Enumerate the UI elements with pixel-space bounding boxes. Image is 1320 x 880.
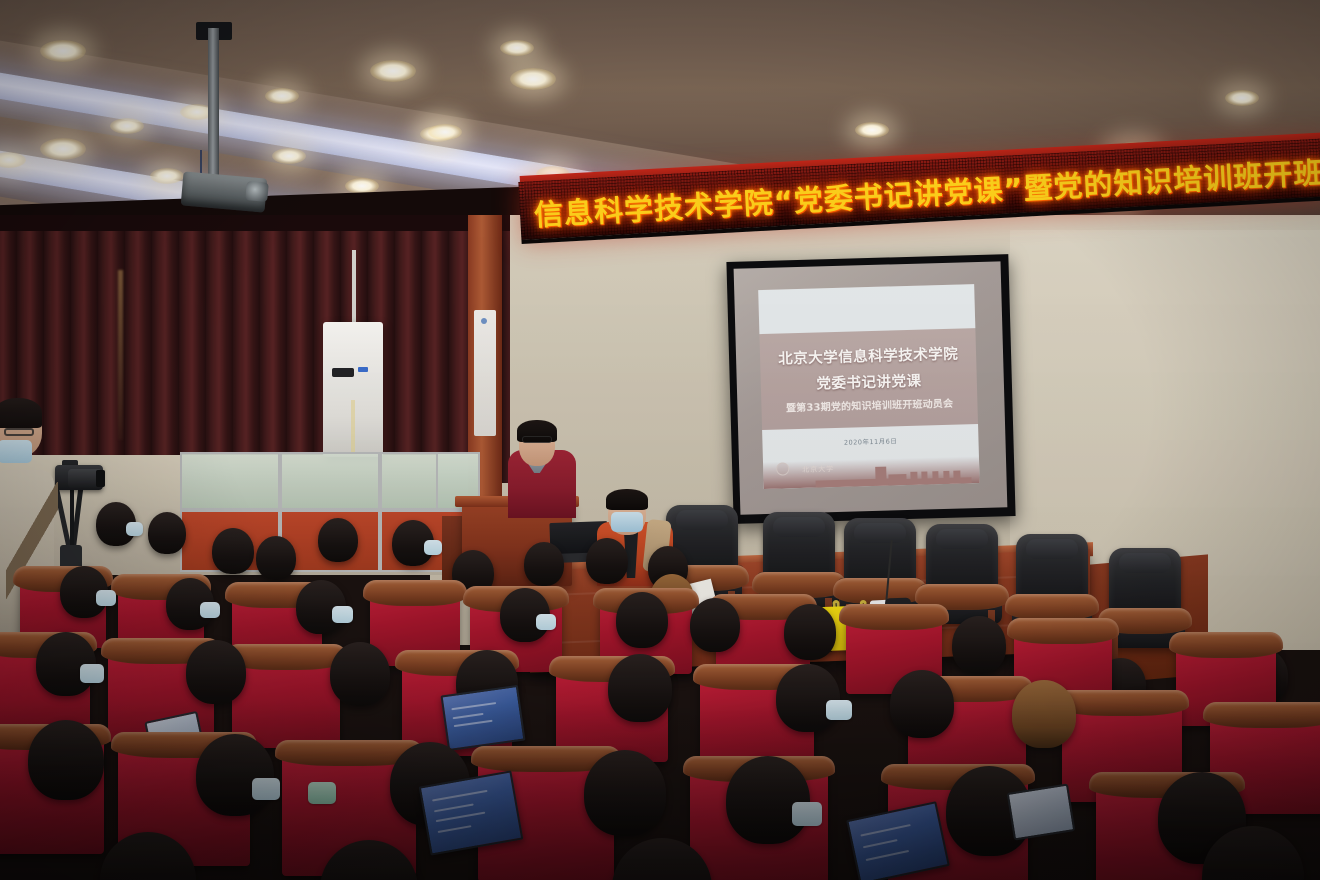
eyeglasses-icon	[522, 436, 552, 443]
audience-head	[726, 756, 810, 844]
audience-area	[0, 520, 1320, 880]
audience-head	[776, 664, 840, 732]
auditorium-photo: 信息科学技术学院“党委书记讲党课”暨党的知识培训班开班动员会 北京大学信息科学技…	[0, 0, 1320, 880]
pku-logo-text: 北京大学	[802, 464, 834, 475]
face-mask-icon	[96, 590, 116, 606]
slide-date: 2020年11月6日	[762, 433, 978, 449]
projection-screen-frame: 北京大学信息科学技术学院 党委书记讲党课 暨第33期党的知识培训班开班动员会 2…	[726, 254, 1015, 524]
downlight-icon	[40, 138, 86, 160]
panel-indicator-icon	[481, 318, 487, 324]
audience-head	[318, 518, 358, 562]
slide-title-block: 北京大学信息科学技术学院 党委书记讲党课 暨第33期党的知识培训班开班动员会	[759, 328, 978, 430]
projector-lens-icon	[245, 181, 269, 202]
audience-head	[256, 536, 296, 580]
slide-line-2: 党委书记讲党课	[816, 370, 922, 394]
face-mask-icon	[0, 440, 32, 463]
curtain-light-strip	[118, 270, 123, 440]
face-mask-icon	[826, 700, 852, 720]
face-mask-icon	[792, 802, 822, 826]
audience-head	[690, 598, 740, 652]
downlight-icon	[40, 40, 86, 62]
stage-curtain	[0, 215, 510, 483]
audience-head	[196, 734, 274, 816]
slide-line-1: 北京大学信息科学技术学院	[778, 343, 959, 369]
ac-pipe	[352, 250, 356, 326]
audience-head	[1012, 680, 1076, 748]
downlight-icon	[428, 124, 462, 140]
attendee-tablet[interactable]	[1007, 783, 1076, 840]
presentation-slide: 北京大学信息科学技术学院 党委书记讲党课 暨第33期党的知识培训班开班动员会 2…	[758, 284, 980, 489]
face-mask-icon	[200, 602, 220, 618]
downlight-icon	[110, 118, 144, 134]
audience-head	[148, 512, 186, 554]
downlight-icon	[265, 88, 299, 104]
audience-head	[28, 720, 104, 800]
face-mask-icon	[536, 614, 556, 630]
face-mask-icon	[308, 782, 336, 804]
lens-hood	[96, 470, 105, 487]
face-mask-icon	[252, 778, 280, 800]
projection-screen: 北京大学信息科学技术学院 党委书记讲党课 暨第33期党的知识培训班开班动员会 2…	[734, 261, 1008, 514]
downlight-icon	[150, 168, 184, 184]
audience-head	[584, 750, 666, 836]
audience-head	[608, 654, 672, 722]
face-mask-icon	[126, 522, 143, 536]
host-hair	[606, 489, 648, 510]
downlight-icon	[500, 40, 534, 56]
curtain-rail	[0, 215, 510, 231]
eyeglasses-icon	[4, 428, 34, 436]
audience-head	[586, 538, 628, 584]
downlight-icon	[370, 60, 416, 82]
slide-footer-band: 2020年11月6日 北京大学	[762, 424, 980, 490]
downlight-icon	[855, 122, 889, 138]
slide-top-band	[758, 284, 975, 334]
attendee-laptop[interactable]	[846, 801, 950, 880]
face-mask-icon	[424, 540, 442, 555]
audience-head	[616, 592, 668, 648]
audience-head	[330, 642, 390, 706]
ac-display-icon	[332, 368, 354, 377]
face-mask-icon	[80, 664, 104, 683]
audience-head	[890, 670, 954, 738]
campus-silhouette	[763, 456, 980, 490]
slide-line-3: 暨第33期党的知识培训班开班动员会	[786, 395, 954, 415]
audience-head	[212, 528, 254, 574]
ac-drain-hose	[351, 400, 355, 455]
audience-head	[952, 616, 1006, 674]
downlight-icon	[272, 148, 306, 164]
downlight-icon	[510, 68, 556, 90]
audience-head	[186, 640, 246, 704]
audience-head	[524, 542, 564, 586]
face-mask-icon	[332, 606, 353, 623]
ac-led-indicator-icon	[358, 367, 368, 372]
downlight-icon	[1225, 90, 1259, 106]
attendee-laptop[interactable]	[440, 685, 525, 751]
camera-operator-hair	[0, 398, 42, 428]
wall-control-panel	[474, 310, 496, 436]
audience-head	[784, 604, 836, 660]
